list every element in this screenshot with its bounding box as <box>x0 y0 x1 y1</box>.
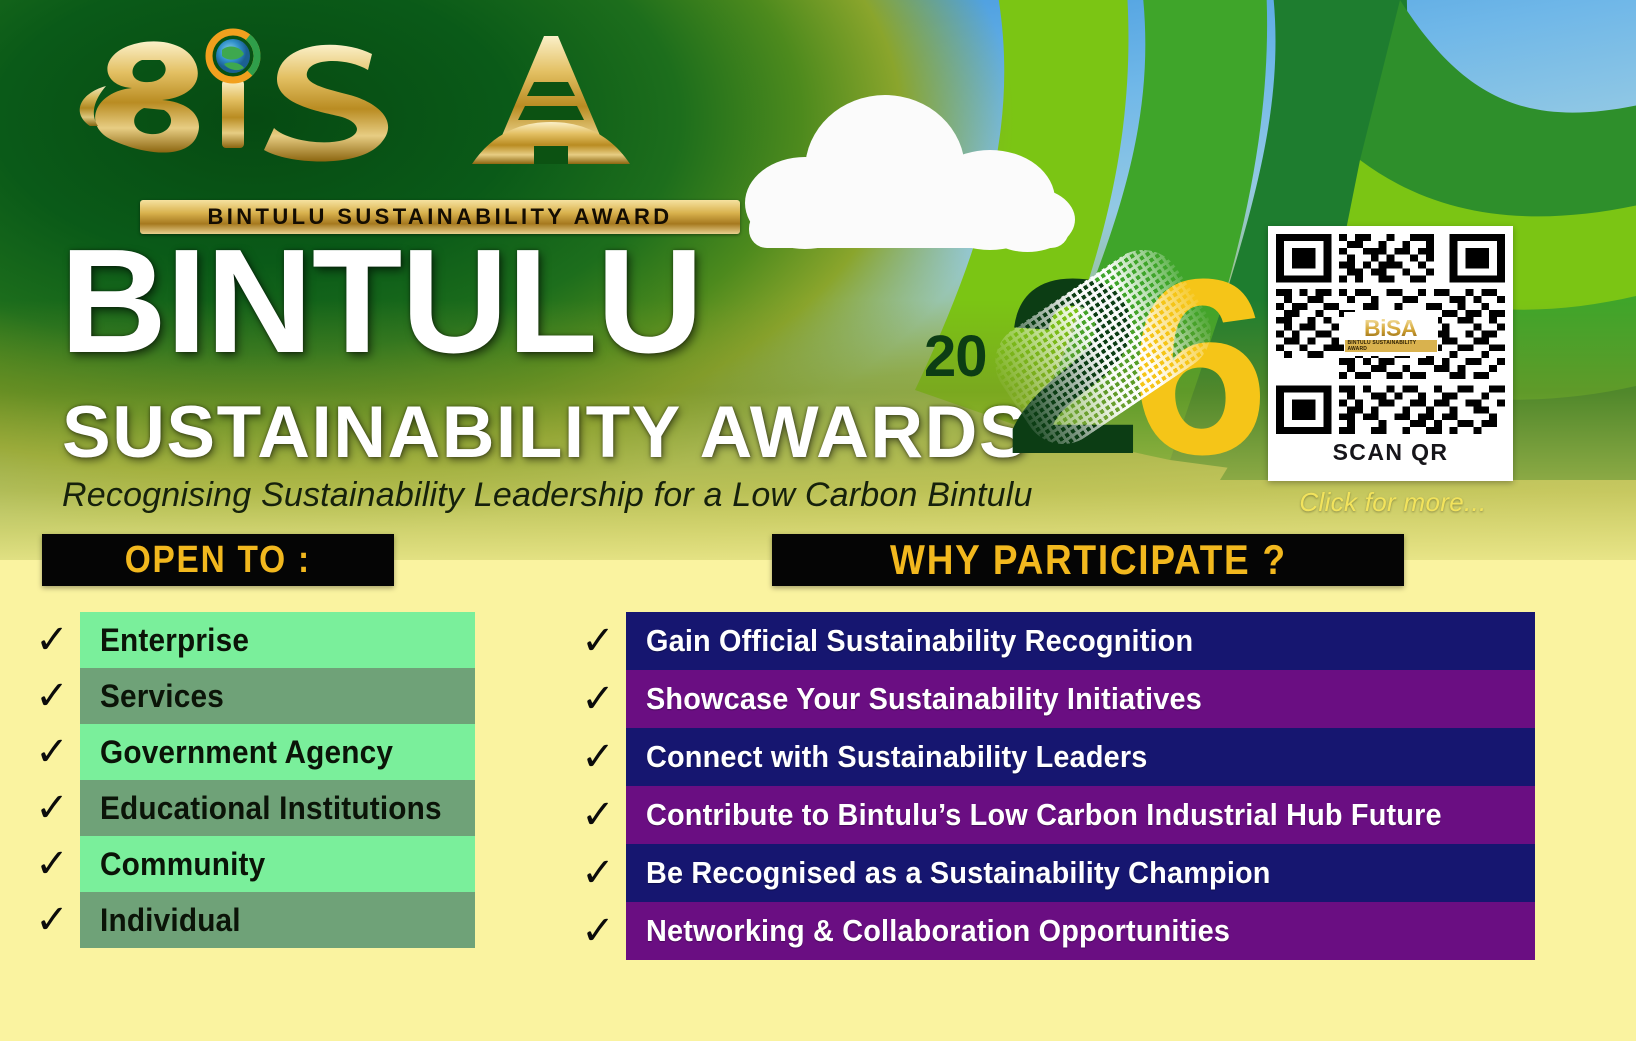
open-to-item-label: Educational Institutions <box>100 790 442 827</box>
qr-caption: SCAN QR <box>1276 434 1505 470</box>
open-to-item-bar: Community <box>80 836 475 892</box>
open-to-item-row: ✓Individual <box>24 892 474 948</box>
bisa-logo-mark <box>72 22 672 172</box>
tagline: Recognising Sustainability Leadership fo… <box>62 476 1033 514</box>
why-participate-item-row: ✓Networking & Collaboration Opportunitie… <box>570 902 1535 960</box>
section-header-open-to: OPEN TO : <box>42 534 394 586</box>
qr-click-for-more-link[interactable]: Click for more... <box>1268 487 1518 518</box>
checkmark-icon: ✓ <box>24 836 80 892</box>
year-prefix: 20 <box>924 328 987 386</box>
why-participate-item-bar: Be Recognised as a Sustainability Champi… <box>626 844 1535 902</box>
checkmark-icon: ✓ <box>24 780 80 836</box>
why-participate-item-label: Gain Official Sustainability Recognition <box>646 623 1193 659</box>
qr-center-logo-text: BiSA <box>1364 317 1417 340</box>
qr-code-image[interactable]: BiSA BINTULU SUSTAINABILITY AWARD <box>1276 234 1505 434</box>
why-participate-item-label: Connect with Sustainability Leaders <box>646 739 1148 775</box>
open-to-item-row: ✓Services <box>24 668 474 724</box>
checkmark-icon: ✓ <box>570 902 626 960</box>
open-to-item-label: Enterprise <box>100 622 249 659</box>
bisa-logo[interactable]: BINTULU SUSTAINABILITY AWARD <box>72 22 672 212</box>
checkmark-icon: ✓ <box>570 728 626 786</box>
open-to-item-label: Individual <box>100 902 241 939</box>
open-to-item-bar: Individual <box>80 892 475 948</box>
checkmark-icon: ✓ <box>570 786 626 844</box>
qr-code-card[interactable]: BiSA BINTULU SUSTAINABILITY AWARD SCAN Q… <box>1268 226 1513 481</box>
open-to-item-bar: Enterprise <box>80 612 475 668</box>
cloud-decoration <box>745 95 1075 245</box>
open-to-item-row: ✓Government Agency <box>24 724 474 780</box>
checkmark-icon: ✓ <box>24 668 80 724</box>
open-to-item-row: ✓Community <box>24 836 474 892</box>
why-participate-item-bar: Showcase Your Sustainability Initiatives <box>626 670 1535 728</box>
open-to-item-bar: Government Agency <box>80 724 475 780</box>
section-header-why-participate: WHY PARTICIPATE ? <box>772 534 1404 586</box>
checkmark-icon: ✓ <box>24 612 80 668</box>
why-participate-item-row: ✓Be Recognised as a Sustainability Champ… <box>570 844 1535 902</box>
why-participate-item-row: ✓Connect with Sustainability Leaders <box>570 728 1535 786</box>
open-to-item-row: ✓Educational Institutions <box>24 780 474 836</box>
year-digit-2: 2 <box>1004 242 1137 492</box>
why-participate-item-label: Showcase Your Sustainability Initiatives <box>646 681 1202 717</box>
why-participate-item-row: ✓Gain Official Sustainability Recognitio… <box>570 612 1535 670</box>
why-participate-item-label: Be Recognised as a Sustainability Champi… <box>646 855 1271 891</box>
open-to-item-row: ✓Enterprise <box>24 612 474 668</box>
checkmark-icon: ✓ <box>24 724 80 780</box>
qr-center-logo-subtext: BINTULU SUSTAINABILITY AWARD <box>1345 340 1437 352</box>
poster-canvas: BINTULU SUSTAINABILITY AWARD BINTULU SUS… <box>0 0 1636 1041</box>
checkmark-icon: ✓ <box>570 670 626 728</box>
checkmark-icon: ✓ <box>570 612 626 670</box>
year-badge-2026: 20 6 2 <box>920 240 1220 500</box>
why-participate-item-label: Networking & Collaboration Opportunities <box>646 913 1230 949</box>
open-to-item-label: Government Agency <box>100 734 393 771</box>
section-header-open-to-label: OPEN TO : <box>125 539 311 582</box>
why-participate-item-row: ✓Showcase Your Sustainability Initiative… <box>570 670 1535 728</box>
year-digit-6: 6 <box>1130 242 1263 492</box>
open-to-item-label: Services <box>100 678 224 715</box>
why-participate-list: ✓Gain Official Sustainability Recognitio… <box>570 612 1535 960</box>
section-header-why-participate-label: WHY PARTICIPATE ? <box>890 536 1287 584</box>
why-participate-item-row: ✓Contribute to Bintulu’s Low Carbon Indu… <box>570 786 1535 844</box>
open-to-list: ✓Enterprise✓Services✓Government Agency✓E… <box>24 612 474 948</box>
open-to-item-label: Community <box>100 846 265 883</box>
why-participate-item-bar: Gain Official Sustainability Recognition <box>626 612 1535 670</box>
why-participate-item-bar: Networking & Collaboration Opportunities <box>626 902 1535 960</box>
why-participate-item-bar: Connect with Sustainability Leaders <box>626 728 1535 786</box>
qr-center-logo: BiSA BINTULU SUSTAINABILITY AWARD <box>1344 312 1438 356</box>
checkmark-icon: ✓ <box>570 844 626 902</box>
open-to-item-bar: Services <box>80 668 475 724</box>
why-participate-item-label: Contribute to Bintulu’s Low Carbon Indus… <box>646 797 1442 833</box>
page-subtitle: SUSTAINABILITY AWARDS <box>62 396 1029 469</box>
why-participate-item-bar: Contribute to Bintulu’s Low Carbon Indus… <box>626 786 1535 844</box>
open-to-item-bar: Educational Institutions <box>80 780 475 836</box>
checkmark-icon: ✓ <box>24 892 80 948</box>
page-title: BINTULU <box>60 228 702 376</box>
